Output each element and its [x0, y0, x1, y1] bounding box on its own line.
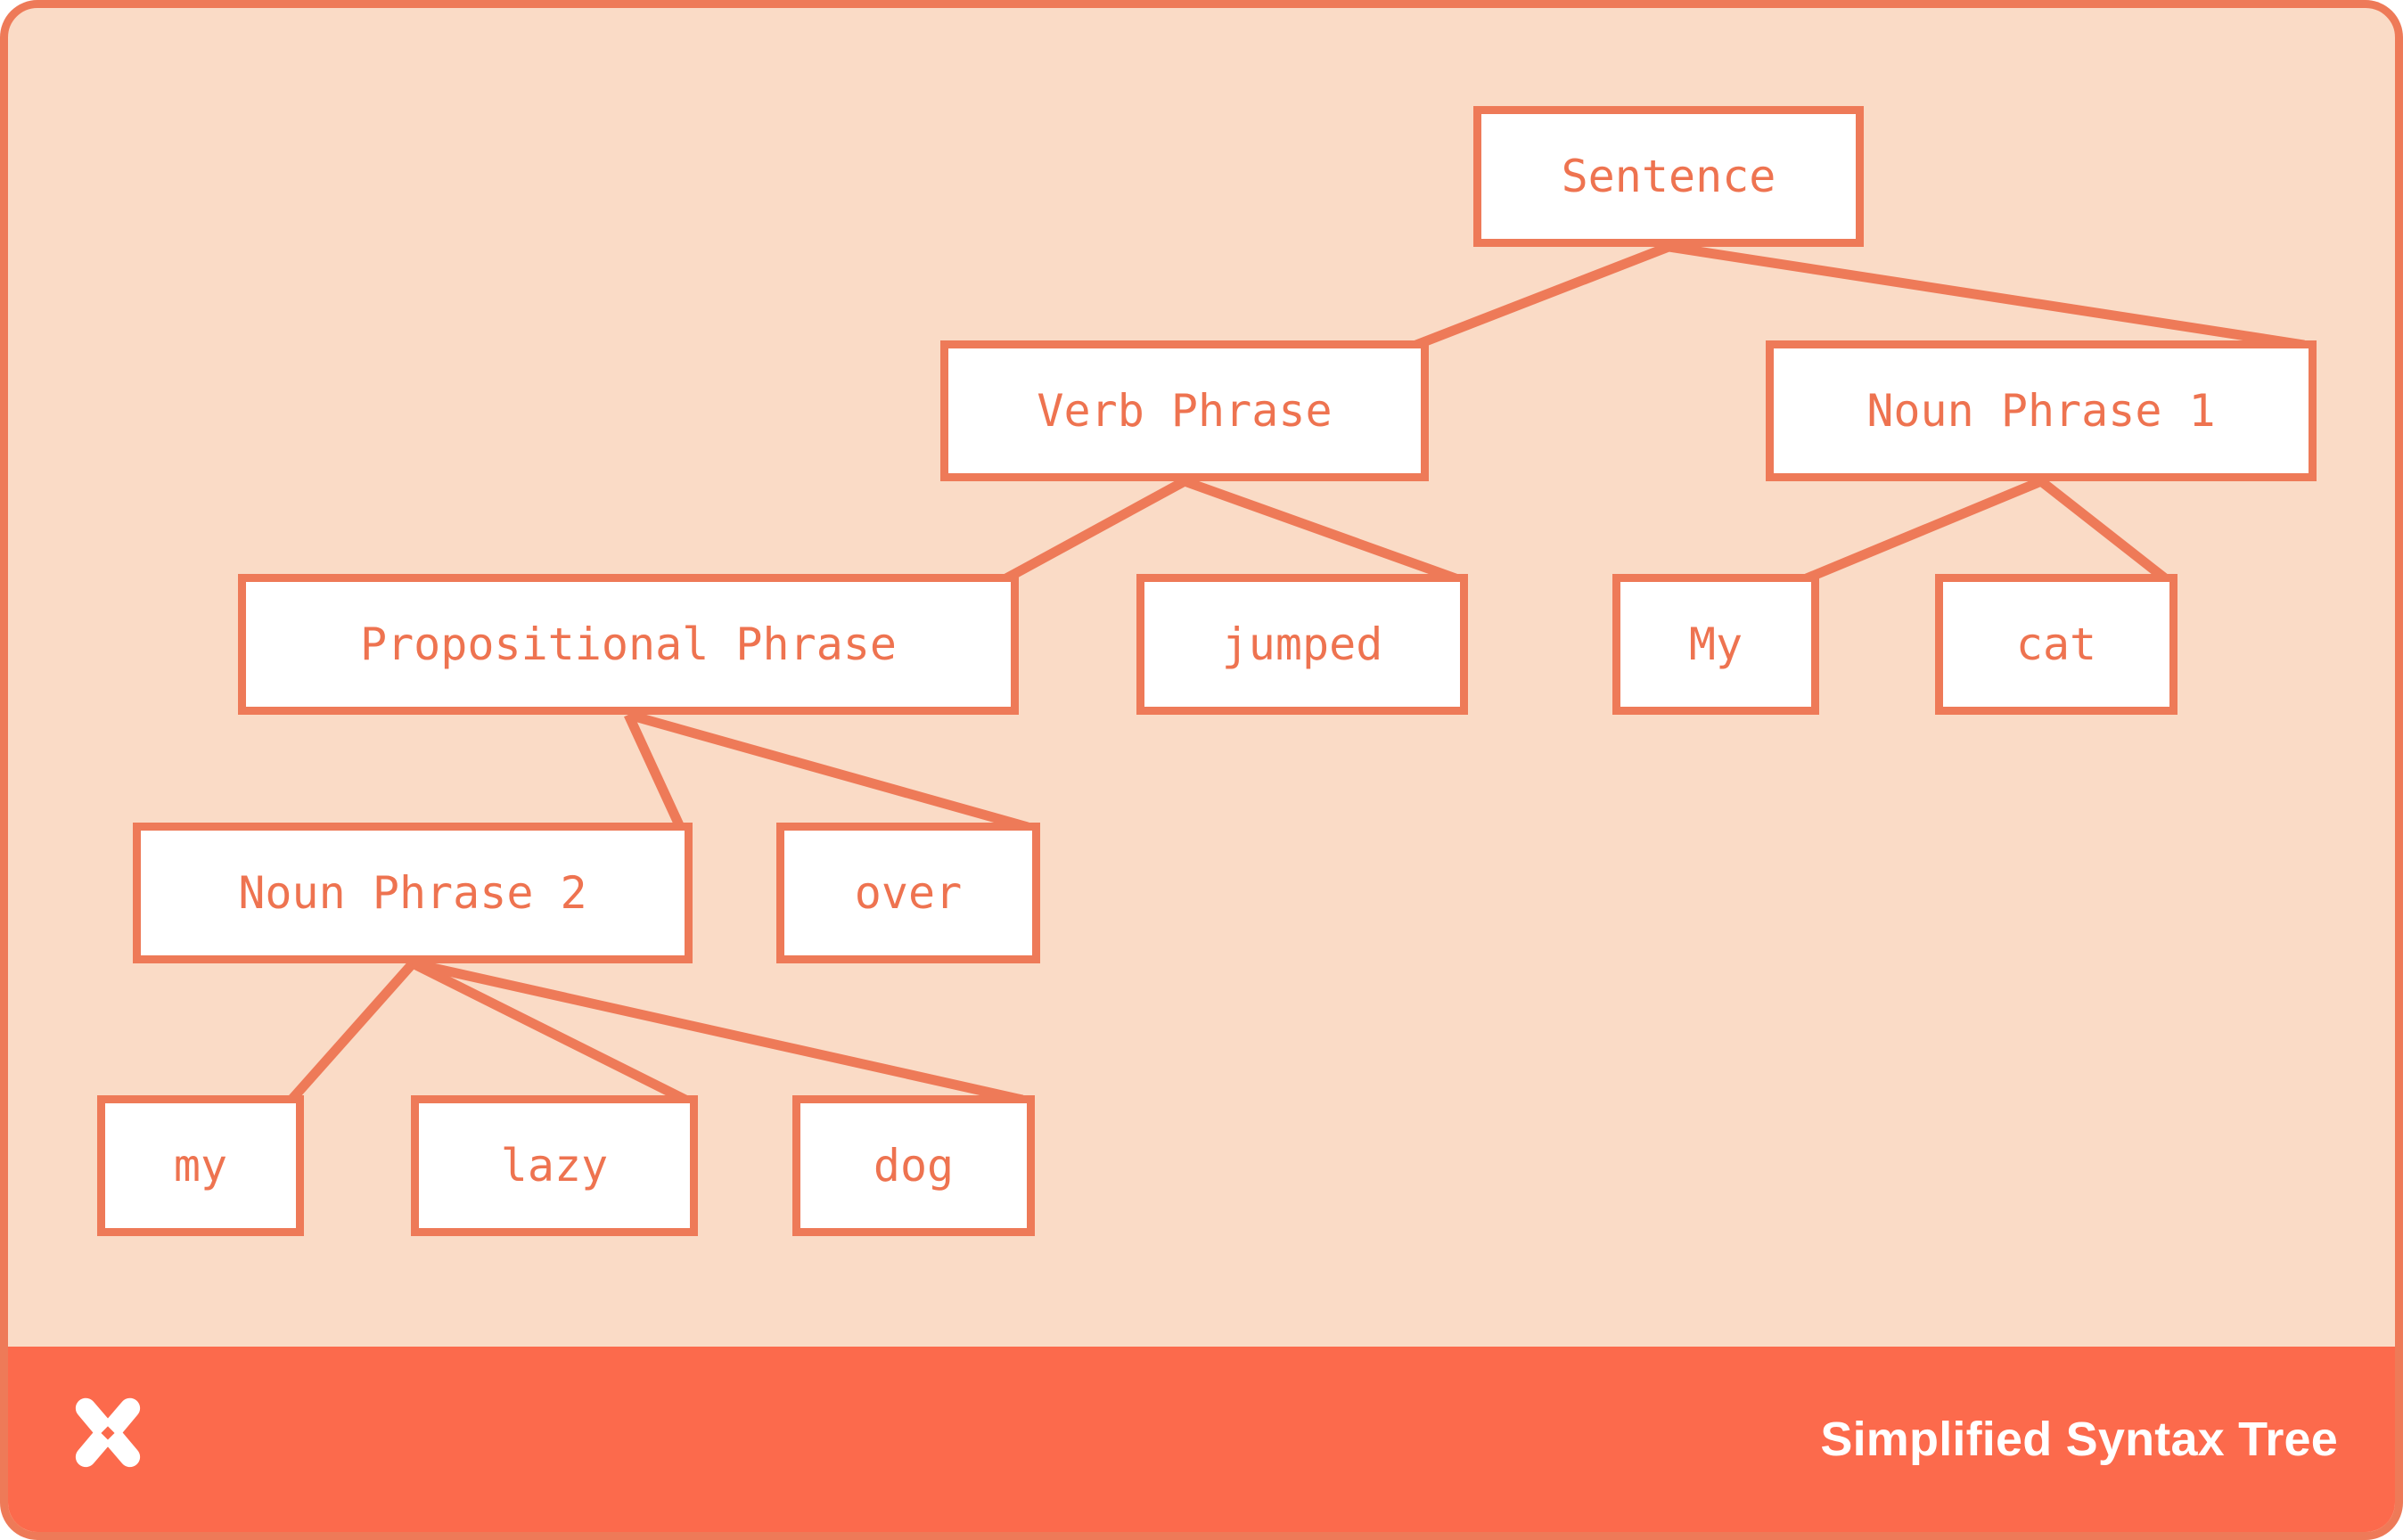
tree-edge-propositional-phrase-to-over [628, 715, 1028, 827]
tree-node-label: Propositional Phrase [360, 622, 897, 667]
tree-edge-verb-phrase-to-propositional-phrase [1006, 481, 1185, 578]
tree-edge-noun-phrase-2-to-my [291, 963, 413, 1100]
tree-node-dog[interactable]: dog [792, 1095, 1035, 1236]
tree-edge-verb-phrase-to-jumped [1185, 481, 1456, 578]
tree-edge-sentence-to-noun-phrase-1 [1669, 247, 2304, 345]
tree-node-label: My [1689, 622, 1743, 667]
tree-node-my[interactable]: my [97, 1095, 304, 1236]
tree-node-jumped[interactable]: jumped [1136, 574, 1468, 715]
xmind-logo-icon [60, 1391, 156, 1487]
tree-node-label: dog [873, 1143, 954, 1188]
tree-node-my-cap[interactable]: My [1612, 574, 1819, 715]
tree-node-noun-phrase-1[interactable]: Noun Phrase 1 [1766, 340, 2317, 481]
tree-node-label: Verb Phrase [1037, 389, 1332, 433]
footer-bar: Simplified Syntax Tree [8, 1347, 2395, 1532]
tree-node-verb-phrase[interactable]: Verb Phrase [940, 340, 1429, 481]
tree-edge-noun-phrase-1-to-cat [2041, 481, 2165, 578]
tree-node-label: lazy [501, 1143, 608, 1188]
tree-node-lazy[interactable]: lazy [411, 1095, 698, 1236]
tree-node-label: Noun Phrase 1 [1866, 389, 2215, 433]
tree-edge-noun-phrase-2-to-dog [413, 963, 1022, 1100]
tree-node-noun-phrase-2[interactable]: Noun Phrase 2 [133, 823, 693, 963]
tree-edge-noun-phrase-1-to-my-cap [1807, 481, 2041, 578]
tree-node-cat[interactable]: cat [1935, 574, 2177, 715]
tree-node-label: Sentence [1562, 154, 1776, 199]
tree-node-over[interactable]: over [776, 823, 1040, 963]
tree-node-label: over [855, 871, 962, 915]
syntax-tree: SentenceVerb PhraseNoun Phrase 1Proposit… [8, 8, 2403, 1363]
footer-title: Simplified Syntax Tree [1820, 1412, 2338, 1467]
tree-edge-sentence-to-verb-phrase [1416, 247, 1669, 345]
tree-edge-noun-phrase-2-to-lazy [413, 963, 685, 1100]
tree-edge-propositional-phrase-to-noun-phrase-2 [628, 715, 680, 827]
diagram-canvas: SentenceVerb PhraseNoun Phrase 1Proposit… [0, 0, 2403, 1540]
tree-node-label: my [174, 1143, 227, 1188]
tree-node-label: cat [2016, 622, 2096, 667]
diagram-card: SentenceVerb PhraseNoun Phrase 1Proposit… [0, 0, 2403, 1540]
tree-node-label: jumped [1222, 622, 1383, 667]
tree-node-sentence[interactable]: Sentence [1473, 106, 1864, 247]
tree-node-label: Noun Phrase 2 [238, 871, 586, 915]
tree-node-propositional-phrase[interactable]: Propositional Phrase [238, 574, 1019, 715]
